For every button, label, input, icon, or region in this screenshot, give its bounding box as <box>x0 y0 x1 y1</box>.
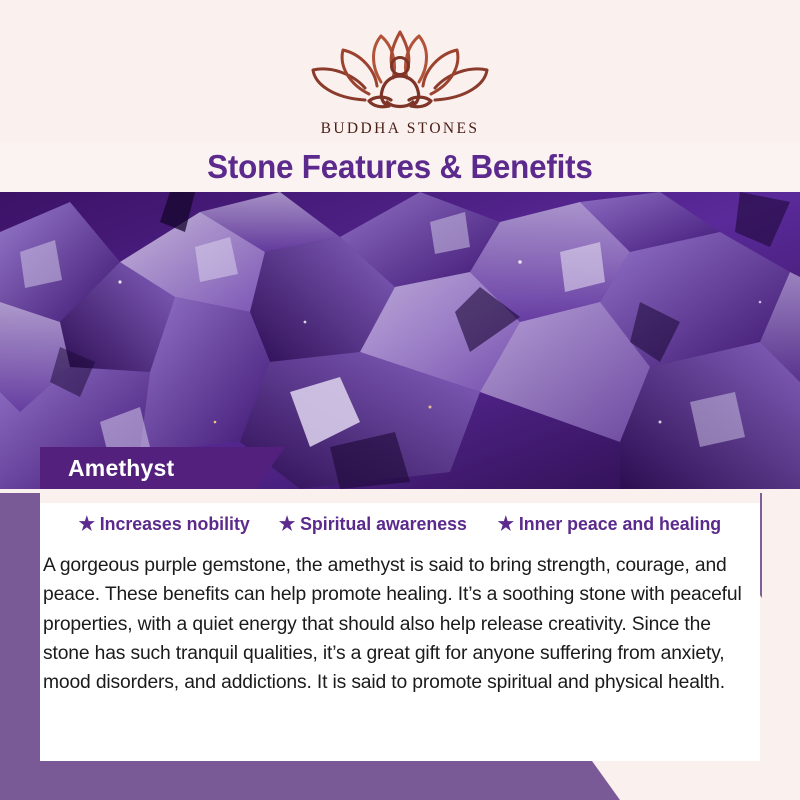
star-icon: ★ <box>497 515 513 534</box>
title-band: Stone Features & Benefits <box>0 142 800 192</box>
brand-name: BUDDHA STONES <box>0 120 800 138</box>
infographic-page: BUDDHA STONES Stone Features & Benefits <box>0 0 800 800</box>
stone-description: A gorgeous purple gemstone, the amethyst… <box>43 551 757 697</box>
star-icon: ★ <box>78 515 94 534</box>
page-header: BUDDHA STONES <box>0 0 800 142</box>
feature-label: Spiritual awareness <box>300 513 467 535</box>
frame-left-accent-bar <box>0 493 40 761</box>
star-icon: ★ <box>279 515 295 534</box>
page-title: Stone Features & Benefits <box>207 148 592 186</box>
brand-logo: BUDDHA STONES <box>0 22 800 138</box>
content-top-tint <box>40 489 760 503</box>
feature-label: Increases nobility <box>99 513 249 535</box>
feature-item: ★ Increases nobility <box>78 513 249 535</box>
feature-label: Inner peace and healing <box>518 513 720 535</box>
feature-item: ★ Spiritual awareness <box>279 513 467 535</box>
features-list: ★ Increases nobility ★ Spiritual awarene… <box>40 513 760 535</box>
amethyst-crystal-photo <box>0 192 800 489</box>
frame-bottom-accent-bar <box>0 761 800 800</box>
stone-name-banner: Amethyst <box>40 447 285 489</box>
stone-name: Amethyst <box>68 455 174 482</box>
content-panel: ★ Increases nobility ★ Spiritual awarene… <box>40 489 760 761</box>
lotus-meditation-icon <box>0 22 800 118</box>
feature-item: ★ Inner peace and healing <box>497 513 721 535</box>
